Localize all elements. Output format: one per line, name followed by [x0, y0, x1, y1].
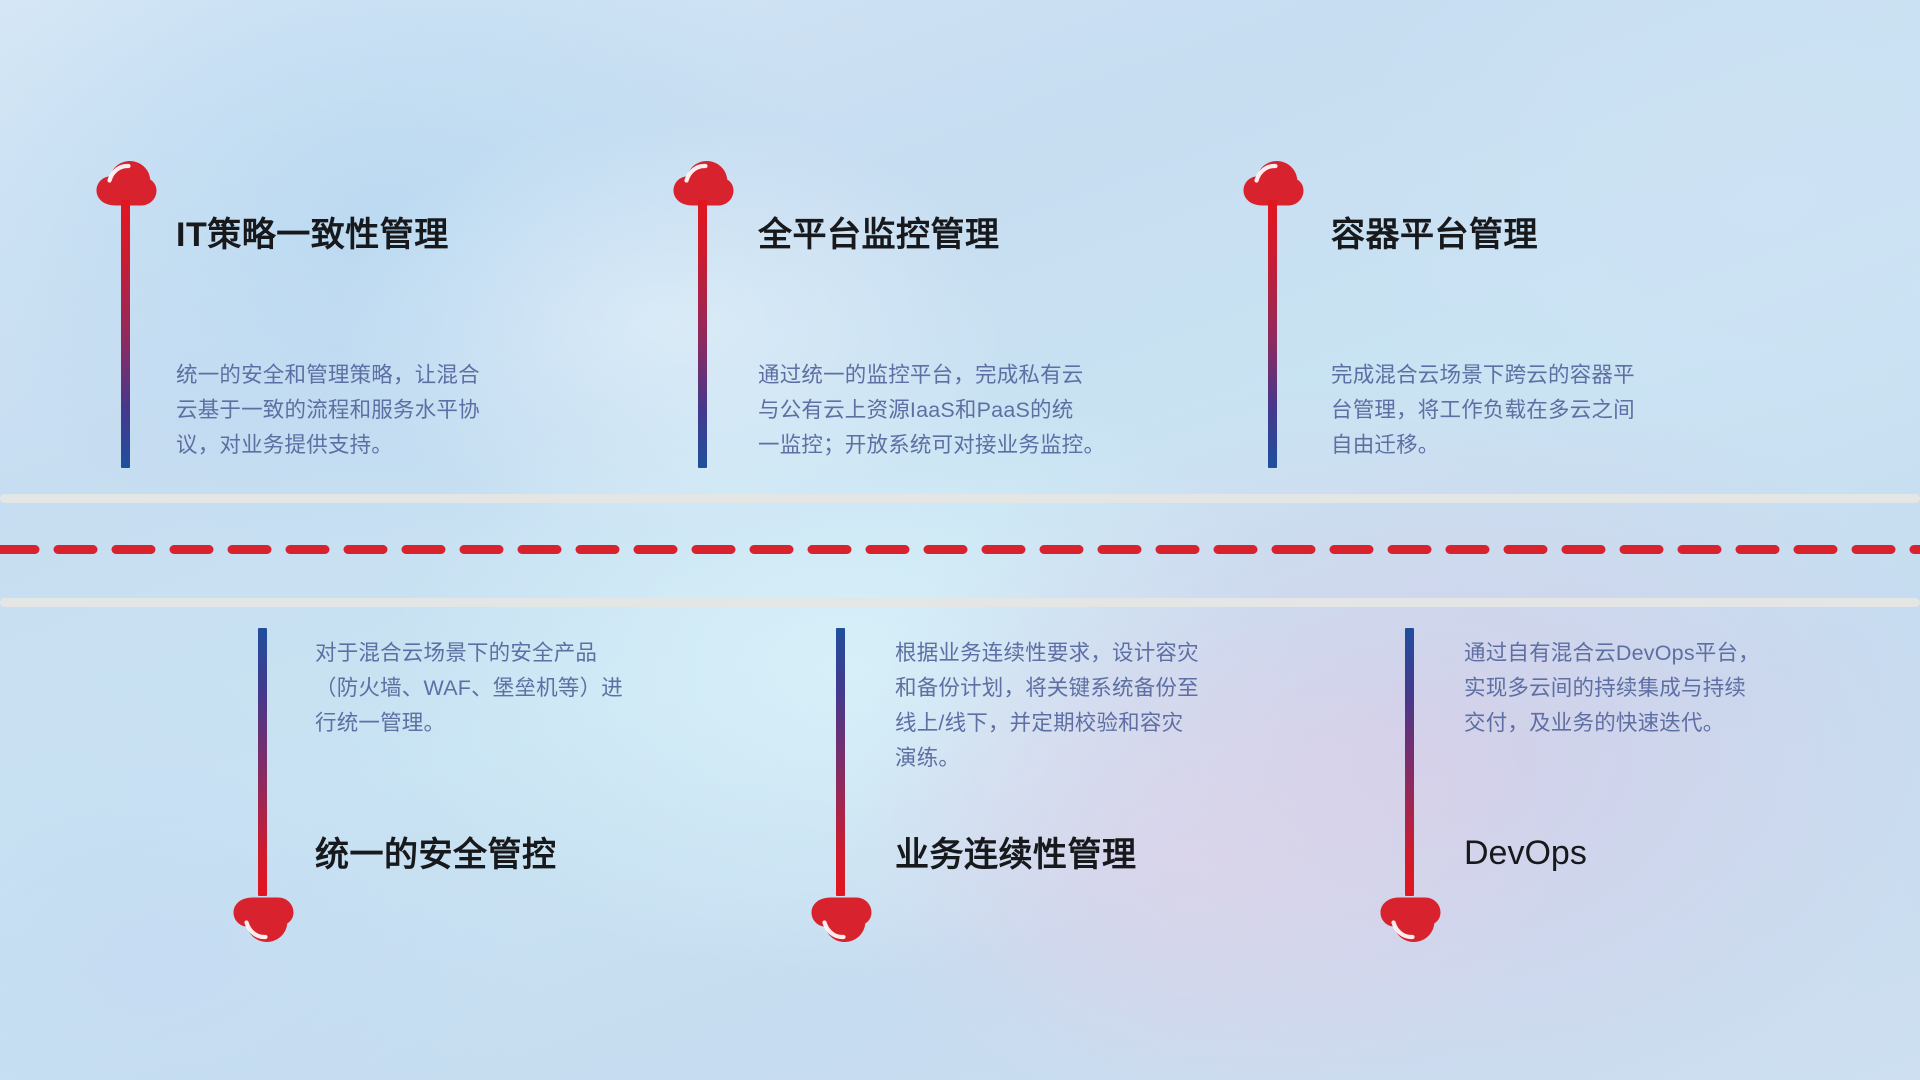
dashed-divider-icon — [0, 545, 1920, 554]
connector-stem — [1405, 628, 1414, 896]
cloud-icon — [1379, 897, 1441, 943]
feature-title: 业务连续性管理 — [895, 838, 1137, 872]
feature-body: 对于混合云场景下的安全产品 （防火墙、WAF、堡垒机等）进 行统一管理。 — [315, 636, 745, 741]
feature-title: 统一的安全管控 — [315, 838, 557, 872]
divider-rule-top — [0, 494, 1920, 503]
connector-stem — [121, 200, 130, 468]
feature-body: 通过自有混合云DevOps平台， 实现多云间的持续集成与持续 交付，及业务的快速… — [1464, 636, 1894, 741]
feature-body: 通过统一的监控平台，完成私有云 与公有云上资源IaaS和PaaS的统 一监控；开… — [758, 358, 1208, 463]
feature-body: 完成混合云场景下跨云的容器平 台管理，将工作负载在多云之间 自由迁移。 — [1331, 358, 1771, 463]
feature-body: 统一的安全和管理策略，让混合 云基于一致的流程和服务水平协 议，对业务提供支持。 — [176, 358, 606, 463]
connector-stem — [1268, 200, 1277, 468]
cloud-icon — [232, 897, 294, 943]
feature-body: 根据业务连续性要求，设计容灾 和备份计划，将关键系统备份至 线上/线下，并定期校… — [895, 636, 1335, 776]
feature-title: DevOps — [1464, 836, 1587, 870]
feature-title: IT策略一致性管理 — [176, 218, 449, 252]
divider-rule-bottom — [0, 598, 1920, 607]
connector-stem — [258, 628, 267, 896]
feature-title: 全平台监控管理 — [758, 218, 1000, 252]
connector-stem — [698, 200, 707, 468]
cloud-icon — [810, 897, 872, 943]
connector-stem — [836, 628, 845, 896]
feature-title: 容器平台管理 — [1331, 218, 1538, 252]
